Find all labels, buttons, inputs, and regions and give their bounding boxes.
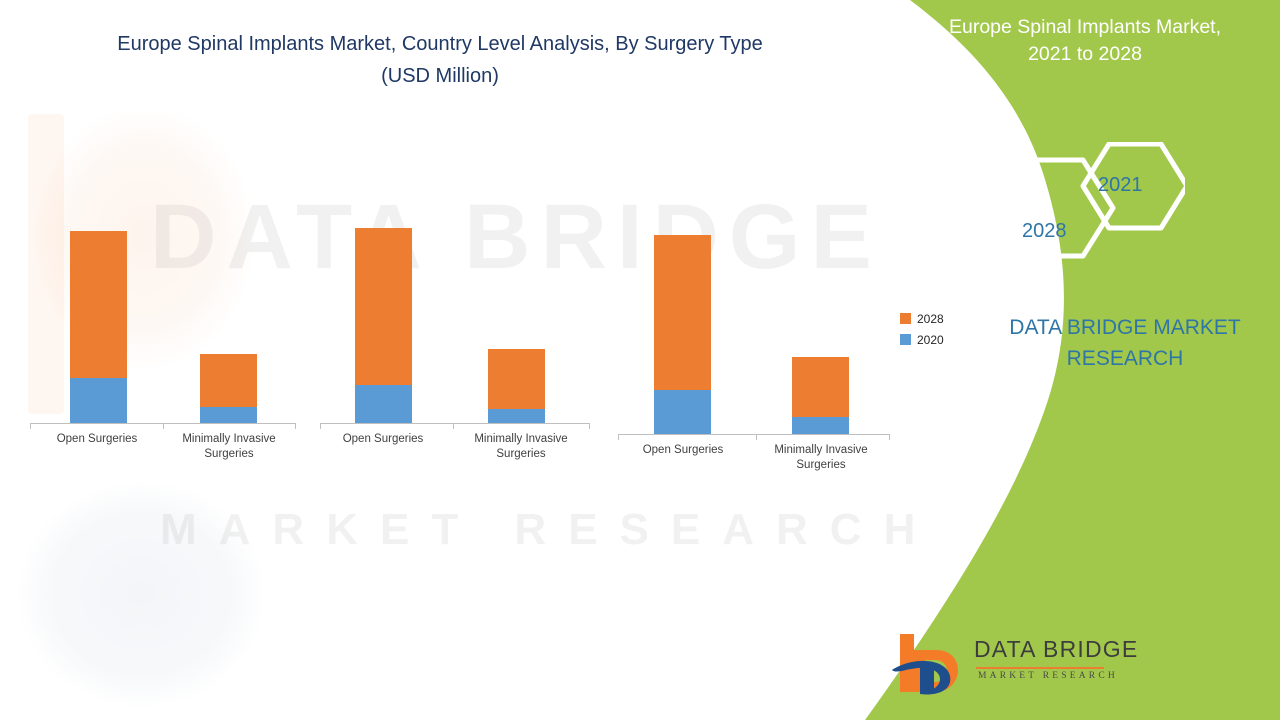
- bar-minimally-invasive-surgeries[interactable]: [488, 349, 545, 423]
- x-axis-line: [618, 434, 890, 435]
- legend-label: 2028: [917, 313, 944, 325]
- logo-wordmark: DATA BRIDGE: [974, 636, 1138, 663]
- category-label-minimally-invasive-surgeries: Minimally Invasive Surgeries: [756, 443, 886, 473]
- bar-segment-2020: [355, 385, 412, 423]
- bar-segment-2028: [355, 228, 412, 385]
- plot-area-2: [320, 223, 590, 423]
- bar-minimally-invasive-surgeries[interactable]: [200, 354, 257, 423]
- panel-title: Europe Spinal Implants Market, 2021 to 2…: [905, 14, 1265, 68]
- page-title-line1: Europe Spinal Implants Market, Country L…: [117, 33, 763, 55]
- axis-tick: [589, 423, 590, 429]
- bar-segment-2028: [200, 354, 257, 407]
- legend-swatch-icon: [900, 334, 911, 345]
- axis-tick: [889, 434, 890, 440]
- watermark-logo-blue: [0, 460, 290, 720]
- page-title: Europe Spinal Implants Market, Country L…: [40, 28, 840, 92]
- axis-tick: [453, 423, 454, 429]
- hexagon-group: [985, 142, 1185, 282]
- bar-minimally-invasive-surgeries[interactable]: [792, 357, 849, 434]
- bar-segment-2020: [200, 407, 257, 423]
- legend-item-2028[interactable]: 2028: [900, 310, 970, 327]
- bar-segment-2028: [70, 231, 127, 378]
- watermark-text-line2: MARKET RESEARCH: [160, 505, 937, 555]
- category-label-open-surgeries: Open Surgeries: [318, 432, 448, 447]
- category-label-open-surgeries: Open Surgeries: [32, 432, 162, 447]
- panel-title-line1: Europe Spinal Implants Market,: [949, 16, 1221, 38]
- chart-panel-3: Open Surgeries Minimally Invasive Surger…: [618, 234, 890, 484]
- bar-segment-2028: [792, 357, 849, 417]
- bar-open-surgeries[interactable]: [355, 228, 412, 423]
- bar-segment-2028: [654, 235, 711, 390]
- axis-tick: [295, 423, 296, 429]
- legend-item-2020[interactable]: 2020: [900, 331, 970, 348]
- bar-segment-2020: [654, 390, 711, 434]
- axis-tick: [30, 423, 31, 429]
- bar-segment-2020: [70, 378, 127, 423]
- company-logo[interactable]: DATA BRIDGE MARKET RESEARCH: [890, 630, 1105, 700]
- axis-tick: [756, 434, 757, 440]
- logo-divider: [976, 667, 1104, 669]
- legend-swatch-icon: [900, 313, 911, 324]
- axis-tick: [163, 423, 164, 429]
- logo-tagline: MARKET RESEARCH: [978, 671, 1118, 681]
- plot-area-3: [618, 234, 890, 434]
- chart-panel-2: Open Surgeries Minimally Invasive Surger…: [320, 223, 590, 473]
- bar-open-surgeries[interactable]: [654, 235, 711, 434]
- legend-label: 2020: [917, 334, 944, 346]
- panel-brand-line2: RESEARCH: [1067, 347, 1184, 370]
- chart-panel-1: Open Surgeries Minimally Invasive Surger…: [30, 223, 296, 473]
- x-axis-line: [320, 423, 590, 424]
- bar-segment-2020: [792, 417, 849, 434]
- infographic-canvas: DATA BRIDGE MARKET RESEARCH Europe Spina…: [0, 0, 1280, 720]
- axis-tick: [618, 434, 619, 440]
- category-label-minimally-invasive-surgeries: Minimally Invasive Surgeries: [164, 432, 294, 462]
- chart-legend: 2028 2020: [900, 310, 970, 352]
- category-label-minimally-invasive-surgeries: Minimally Invasive Surgeries: [456, 432, 586, 462]
- logo-mark-icon: [890, 630, 968, 696]
- panel-brand-text: DATA BRIDGE MARKET RESEARCH: [975, 312, 1275, 374]
- panel-brand-line1: DATA BRIDGE MARKET: [1009, 316, 1240, 339]
- hexagon-label-2021: 2021: [1098, 174, 1143, 197]
- page-title-line2: (USD Million): [381, 65, 499, 87]
- bar-segment-2028: [488, 349, 545, 409]
- category-label-open-surgeries: Open Surgeries: [618, 443, 748, 458]
- hexagon-label-2028: 2028: [1022, 220, 1067, 243]
- axis-tick: [320, 423, 321, 429]
- bar-open-surgeries[interactable]: [70, 231, 127, 423]
- bar-segment-2020: [488, 409, 545, 423]
- plot-area-1: [30, 223, 296, 423]
- panel-title-line2: 2021 to 2028: [1028, 43, 1142, 65]
